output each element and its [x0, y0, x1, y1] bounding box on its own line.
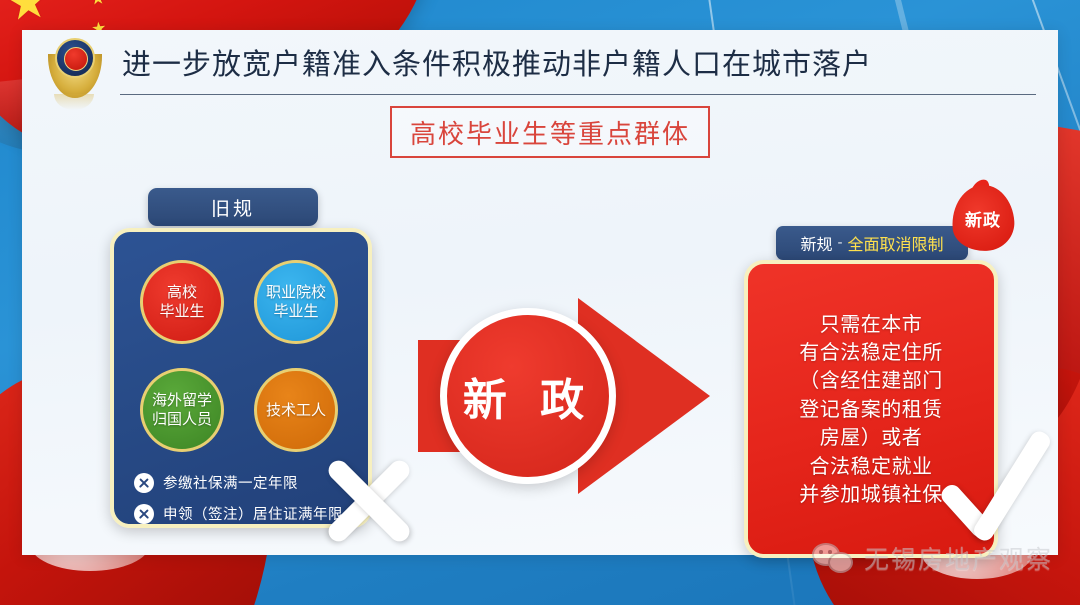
infographic-card: 进一步放宽户籍准入条件积极推动非户籍人口在城市落户 高校毕业生等重点群体 旧规 … [22, 30, 1058, 555]
arrow-circle-label: 新 政 [463, 364, 593, 428]
group-circle-college: 高校 毕业生 [140, 260, 224, 344]
watermark: 无锡房地产观察 [812, 540, 1053, 576]
new-rules-badge-suffix: 全面取消限制 [848, 231, 944, 255]
wechat-icon [812, 543, 856, 573]
old-rules-badge-label: 旧规 [211, 194, 255, 221]
circle-line-2: 归国人员 [152, 410, 212, 429]
header: 进一步放宽户籍准入条件积极推动非户籍人口在城市落户 [22, 30, 1058, 98]
condition-label: 参缴社保满一定年限 [163, 472, 298, 493]
group-circle-overseas: 海外留学 归国人员 [140, 368, 224, 452]
flame-badge-label: 新政 [965, 206, 1001, 231]
circle-line-2: 毕业生 [273, 302, 318, 321]
group-circle-technician: 技术工人 [254, 368, 338, 452]
circle-line-1: 技术工人 [266, 401, 326, 420]
header-divider [120, 94, 1036, 95]
highlight-box: 高校毕业生等重点群体 [390, 106, 710, 158]
new-rules-line: 登记备案的租赁 [799, 395, 943, 423]
flame-icon: 新政 [952, 185, 1014, 251]
circle-line-1: 高校 [167, 283, 197, 302]
circle-line-2: 毕业生 [159, 302, 204, 321]
x-mark-icon [134, 473, 154, 493]
page-title: 进一步放宽户籍准入条件积极推动非户籍人口在城市落户 [122, 40, 1030, 88]
police-emblem-icon [44, 36, 106, 98]
new-rules-badge: 新规 - 全面取消限制 [776, 226, 968, 260]
circle-line-1: 职业院校 [266, 283, 326, 302]
new-rules-line: 有合法稳定住所 [799, 338, 943, 366]
flag-star: ★ [4, 0, 52, 28]
new-rules-line: 房屋）或者 [820, 423, 923, 451]
big-x-icon [310, 442, 428, 560]
new-rules-badge-dash: - [837, 235, 842, 251]
group-circle-vocational: 职业院校 毕业生 [254, 260, 338, 344]
circle-line-1: 海外留学 [152, 391, 212, 410]
new-rules-badge-prefix: 新规 [800, 231, 832, 255]
big-check-icon [952, 430, 1076, 550]
new-rules-line: （含经住建部门 [799, 366, 943, 394]
new-rules-line: 合法稳定就业 [810, 452, 933, 480]
new-rules-line: 只需在本市 [820, 310, 923, 338]
old-rules-badge: 旧规 [148, 188, 318, 226]
watermark-label: 无锡房地产观察 [864, 540, 1053, 576]
flag-star: ★ [89, 0, 106, 9]
x-mark-icon [134, 504, 154, 524]
arrow-circle-badge: 新 政 [440, 308, 616, 484]
new-rules-line: 并参加城镇社保 [799, 480, 943, 508]
right-arrow-icon: 新 政 [418, 298, 710, 494]
highlight-label: 高校毕业生等重点群体 [410, 114, 690, 151]
